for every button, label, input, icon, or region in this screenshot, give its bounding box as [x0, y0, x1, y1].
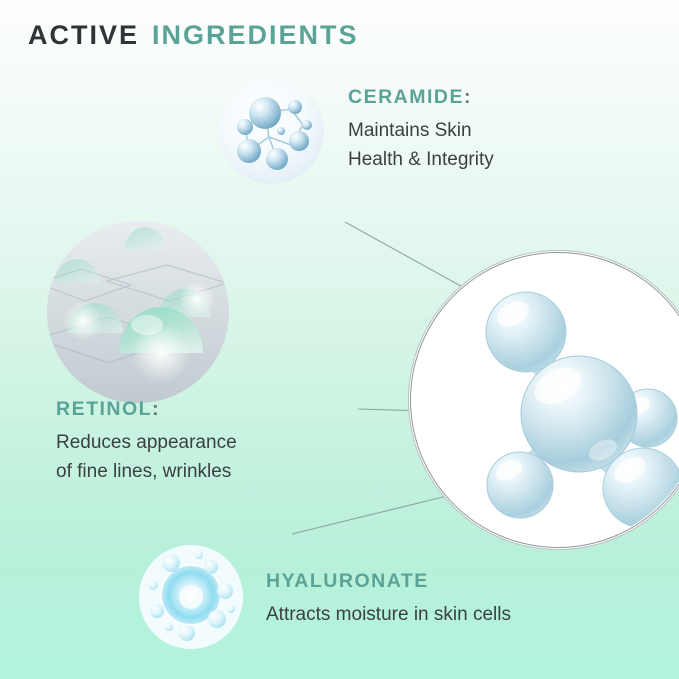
- ingredient-heading-hyaluronate: HYALURONATE: [266, 570, 511, 593]
- ingredient-heading-text: CERAMIDE: [348, 86, 464, 108]
- thumbnail-ceramide: [219, 79, 324, 184]
- ingredient-body-retinol: Reduces appearance of fine lines, wrinkl…: [56, 428, 237, 486]
- ingredient-block-retinol: RETINOL: Reduces appearance of fine line…: [56, 398, 237, 486]
- ingredient-body-line: Attracts moisture in skin cells: [266, 600, 511, 629]
- ingredient-heading-retinol: RETINOL:: [56, 398, 237, 421]
- molecule-illustration: [412, 254, 679, 546]
- molecule-atoms: [486, 292, 679, 528]
- ingredient-body-line: Reduces appearance: [56, 428, 237, 457]
- ingredient-body-line: of fine lines, wrinkles: [56, 457, 237, 486]
- ingredient-body-hyaluronate: Attracts moisture in skin cells: [266, 600, 511, 629]
- ingredient-block-hyaluronate: HYALURONATE Attracts moisture in skin ce…: [266, 570, 511, 629]
- hero-molecule-circle: [412, 254, 679, 546]
- infographic-canvas: ACTIVE INGREDIENTS: [0, 0, 679, 679]
- ingredient-body-line: Maintains Skin: [348, 116, 494, 145]
- ingredient-heading-ceramide: CERAMIDE:: [348, 86, 494, 109]
- molecule-network-icon: [219, 79, 324, 184]
- ingredient-heading-text: RETINOL: [56, 398, 152, 420]
- ingredient-body-ceramide: Maintains Skin Health & Integrity: [348, 116, 494, 174]
- ingredient-body-line: Health & Integrity: [348, 145, 494, 174]
- ingredient-heading-colon: :: [464, 86, 471, 108]
- ingredient-heading-colon: :: [152, 398, 159, 420]
- thumbnail-retinol: [47, 221, 229, 403]
- green-droplet-domes-icon: [47, 221, 229, 403]
- ingredient-heading-text: HYALURONATE: [266, 570, 429, 592]
- ingredient-block-ceramide: CERAMIDE: Maintains Skin Health & Integr…: [348, 86, 494, 174]
- water-bubble-cell-icon: [139, 545, 243, 649]
- thumbnail-hyaluronate: [139, 545, 243, 649]
